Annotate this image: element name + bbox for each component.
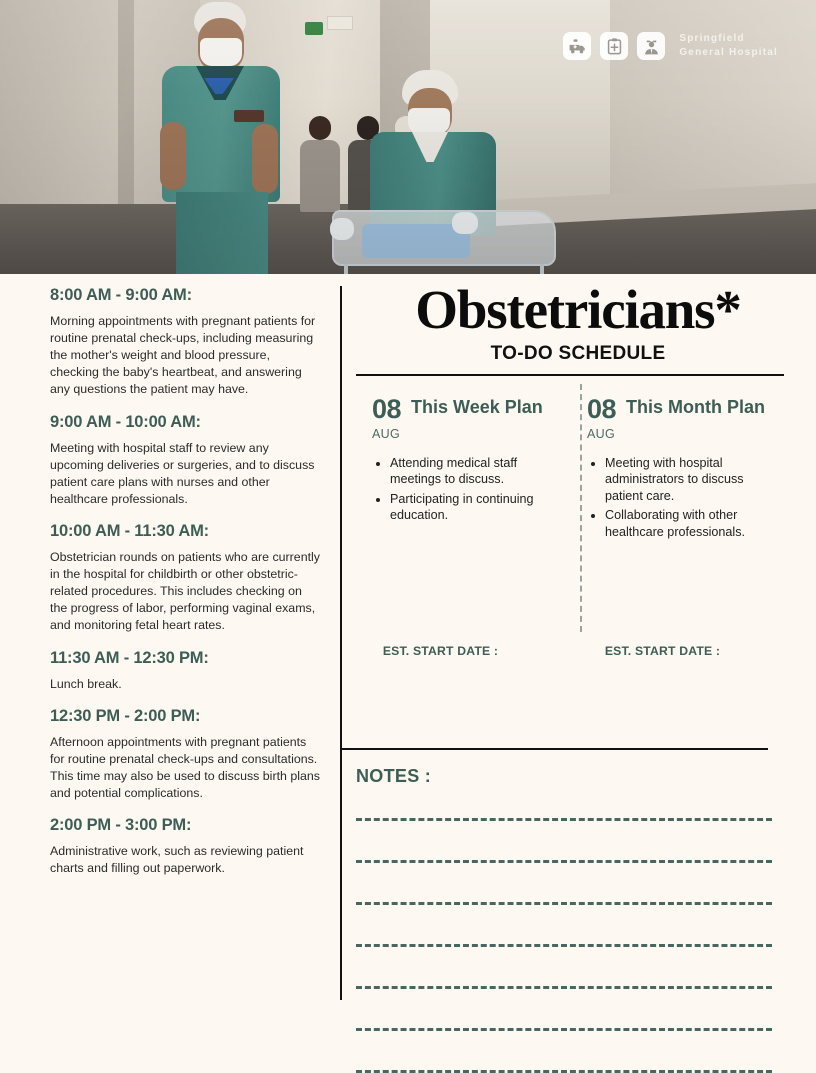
- schedule-description: Morning appointments with pregnant patie…: [50, 313, 322, 399]
- daily-schedule-list: 8:00 AM - 9:00 AM: Morning appointments …: [50, 286, 322, 891]
- schedule-item: 2:00 PM - 3:00 PM: Administrative work, …: [50, 816, 322, 877]
- schedule-time: 12:30 PM - 2:00 PM:: [50, 707, 322, 726]
- ambulance-icon: [563, 32, 591, 60]
- note-line[interactable]: [356, 902, 772, 905]
- plan-day: 08: [587, 396, 616, 423]
- schedule-time: 9:00 AM - 10:00 AM:: [50, 413, 322, 432]
- title-block: Obstetricians* TO-DO SCHEDULE: [340, 274, 816, 376]
- page-body: 8:00 AM - 9:00 AM: Morning appointments …: [0, 274, 816, 1056]
- doctor-icon: [637, 32, 665, 60]
- plan-separator: [580, 384, 582, 632]
- plan-title: This Month Plan: [626, 396, 765, 418]
- list-item: Attending medical staff meetings to disc…: [390, 455, 557, 488]
- schedule-item: 10:00 AM - 11:30 AM: Obstetrician rounds…: [50, 522, 322, 635]
- schedule-time: 10:00 AM - 11:30 AM:: [50, 522, 322, 541]
- list-item: Participating in continuing education.: [390, 491, 557, 524]
- plan-month: AUG: [587, 428, 616, 441]
- clipboard-plus-icon: [600, 32, 628, 60]
- schedule-item: 12:30 PM - 2:00 PM: Afternoon appointmen…: [50, 707, 322, 802]
- schedule-item: 9:00 AM - 10:00 AM: Meeting with hospita…: [50, 413, 322, 508]
- notes-section: NOTES :: [340, 766, 780, 1073]
- schedule-description: Administrative work, such as reviewing p…: [50, 843, 322, 877]
- note-line[interactable]: [356, 860, 772, 863]
- est-start-date-month[interactable]: EST. START DATE :: [555, 644, 770, 658]
- schedule-time: 2:00 PM - 3:00 PM:: [50, 816, 322, 835]
- schedule-description: Lunch break.: [50, 676, 322, 693]
- est-start-date-row: EST. START DATE : EST. START DATE :: [340, 644, 770, 658]
- plan-month: AUG: [372, 428, 401, 441]
- plan-columns: 08 AUG This Week Plan Attending medical …: [356, 376, 786, 544]
- section-rule: [340, 748, 768, 750]
- note-line[interactable]: [356, 1028, 772, 1031]
- plan-header: 08 AUG This Month Plan: [587, 396, 772, 441]
- plan-date: 08 AUG: [587, 396, 616, 441]
- schedule-time: 11:30 AM - 12:30 PM:: [50, 649, 322, 668]
- schedule-description: Afternoon appointments with pregnant pat…: [50, 734, 322, 802]
- this-week-plan: 08 AUG This Week Plan Attending medical …: [356, 396, 571, 544]
- schedule-description: Meeting with hospital staff to review an…: [50, 440, 322, 508]
- hospital-logo: Springfield General Hospital: [563, 32, 778, 60]
- page-title: Obstetricians*: [356, 282, 806, 337]
- list-item: Meeting with hospital administrators to …: [605, 455, 772, 505]
- page-subtitle: TO-DO SCHEDULE: [356, 343, 806, 365]
- plan-date: 08 AUG: [372, 396, 401, 441]
- plan-item-list: Attending medical staff meetings to disc…: [390, 455, 557, 524]
- schedule-item: 11:30 AM - 12:30 PM: Lunch break.: [50, 649, 322, 693]
- plan-header: 08 AUG This Week Plan: [372, 396, 557, 441]
- est-start-date-week[interactable]: EST. START DATE :: [340, 644, 555, 658]
- schedule-time: 8:00 AM - 9:00 AM:: [50, 286, 322, 305]
- note-line[interactable]: [356, 818, 772, 821]
- this-month-plan: 08 AUG This Month Plan Meeting with hosp…: [571, 396, 786, 544]
- note-line[interactable]: [356, 986, 772, 989]
- schedule-item: 8:00 AM - 9:00 AM: Morning appointments …: [50, 286, 322, 399]
- note-line[interactable]: [356, 944, 772, 947]
- schedule-description: Obstetrician rounds on patients who are …: [50, 549, 322, 635]
- right-panel: Obstetricians* TO-DO SCHEDULE 08 AUG Thi…: [340, 274, 816, 544]
- hero-banner: Springfield General Hospital: [0, 0, 816, 274]
- list-item: Collaborating with other healthcare prof…: [605, 507, 772, 540]
- plan-title: This Week Plan: [411, 396, 543, 418]
- plan-item-list: Meeting with hospital administrators to …: [605, 455, 772, 541]
- plan-day: 08: [372, 396, 401, 423]
- notes-title: NOTES :: [356, 766, 780, 787]
- hospital-name: Springfield General Hospital: [679, 32, 778, 60]
